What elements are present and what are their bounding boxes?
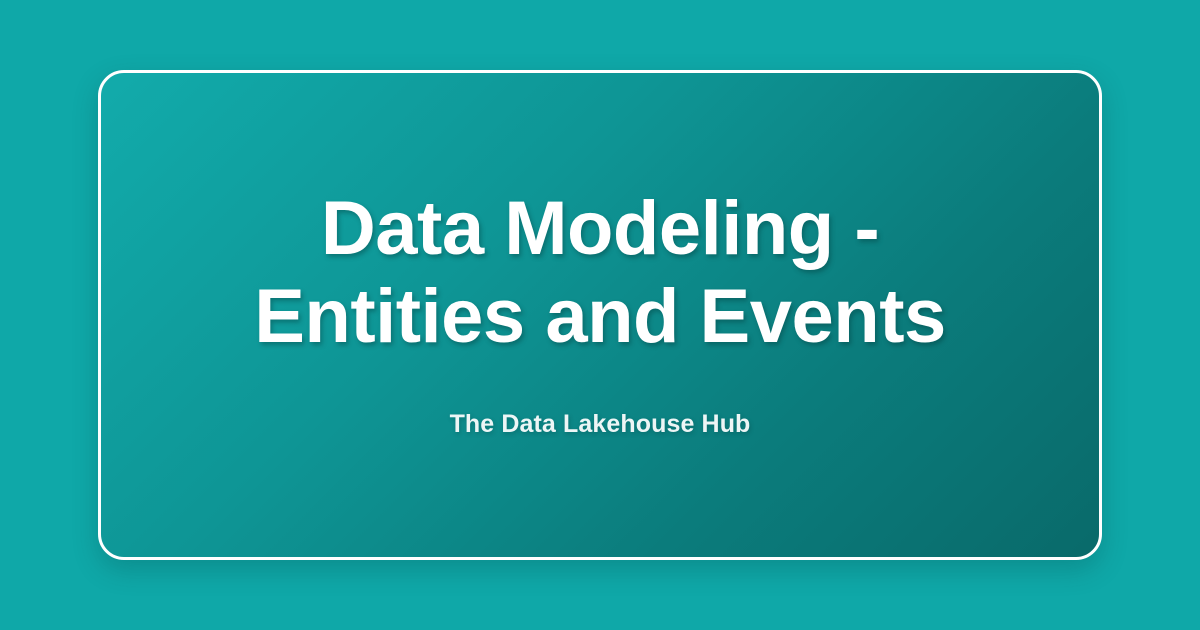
page-title: Data Modeling - Entities and Events: [170, 185, 1030, 361]
hero-card: Data Modeling - Entities and Events The …: [98, 70, 1102, 560]
og-image-canvas: Data Modeling - Entities and Events The …: [0, 0, 1200, 630]
hero-card-content: Data Modeling - Entities and Events The …: [160, 185, 1040, 439]
site-name-subtitle: The Data Lakehouse Hub: [450, 361, 751, 439]
